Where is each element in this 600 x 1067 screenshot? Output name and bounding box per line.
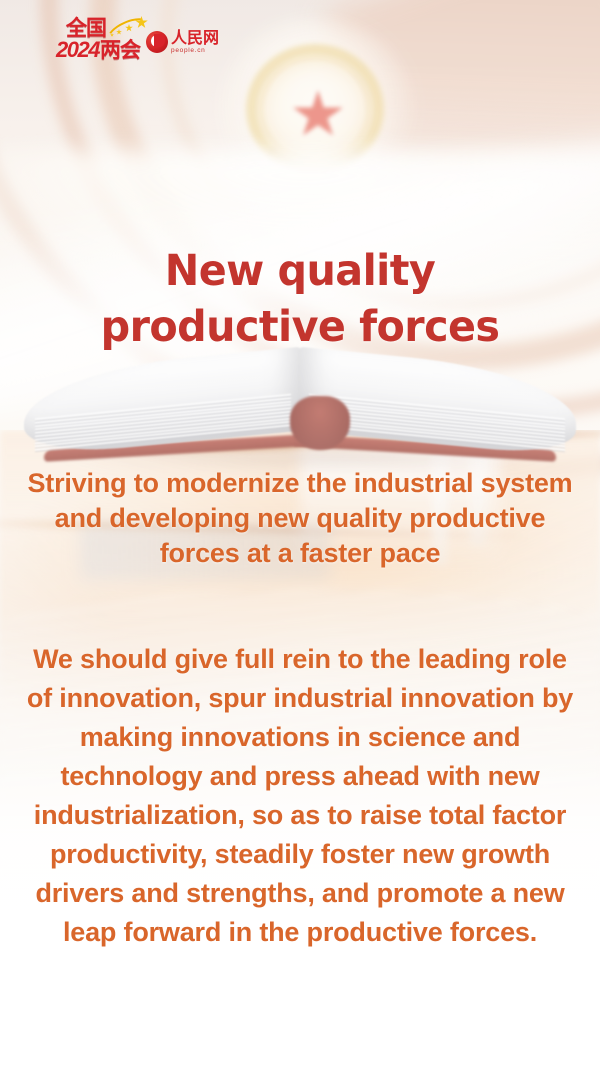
poster-canvas: 全国 2024 两会 人民网 people.cn [0, 0, 600, 1067]
page-title: New quality productive forces [12, 243, 588, 355]
page-title-line-1: New quality [165, 246, 435, 296]
subtitle-text: Striving to modernize the industrial sys… [22, 466, 578, 571]
page-title-line-2: productive forces [101, 302, 500, 352]
poster-content: 全国 2024 两会 人民网 people.cn [0, 0, 600, 1067]
lianghui-year-label: 2024 [56, 38, 99, 62]
people-cn-mark-icon [146, 31, 168, 53]
people-cn-english-label: people.cn [171, 48, 219, 55]
people-cn-wordmark: 人民网 people.cn [171, 30, 219, 55]
gold-stars-group [108, 15, 152, 39]
people-cn-chinese-label: 人民网 [171, 30, 219, 46]
lianghui-top-label: 全国 [66, 17, 106, 39]
body-paragraph: We should give full rein to the leading … [18, 640, 582, 952]
lianghui-2024-logo[interactable]: 全国 2024 两会 [56, 17, 140, 67]
brand-logo-bar[interactable]: 全国 2024 两会 人民网 people.cn [56, 16, 219, 68]
people-cn-logo[interactable]: 人民网 people.cn [146, 30, 219, 55]
